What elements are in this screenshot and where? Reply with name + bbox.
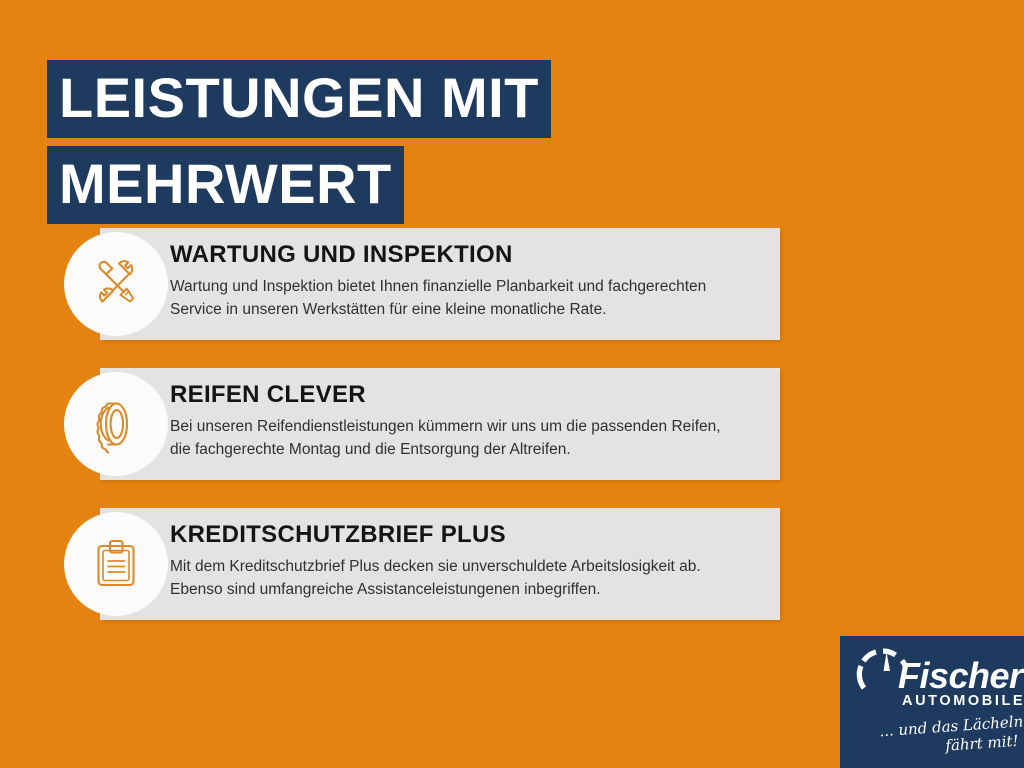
card-icon-badge (64, 512, 168, 616)
card-body: Bei unseren Reifendienstleistungen kümme… (170, 416, 770, 461)
tire-icon (85, 393, 147, 455)
wrench-screwdriver-icon (85, 253, 147, 315)
card-heading: WARTUNG UND INSPEKTION (170, 242, 770, 268)
service-card-kreditschutzbrief-plus[interactable]: KREDITSCHUTZBRIEF PLUS Mit dem Kreditsch… (0, 508, 1024, 620)
card-heading: KREDITSCHUTZBRIEF PLUS (170, 522, 770, 548)
card-text: WARTUNG UND INSPEKTION Wartung und Inspe… (170, 242, 770, 321)
service-card-wartung-und-inspektion[interactable]: WARTUNG UND INSPEKTION Wartung und Inspe… (0, 228, 1024, 340)
slide-root: { "theme": { "background": "#E58310", "n… (0, 0, 1024, 768)
card-heading: REIFEN CLEVER (170, 382, 770, 408)
card-icon-badge (64, 232, 168, 336)
title-line-1: LEISTUNGEN MIT (47, 60, 551, 138)
logo-tagline: ... und das Lächeln fährt mit! (859, 712, 1024, 761)
service-card-reifen-clever[interactable]: REIFEN CLEVER Bei unseren Reifendienstle… (0, 368, 1024, 480)
page-title: LEISTUNGEN MIT MEHRWERT (47, 60, 551, 224)
card-body: Wartung und Inspektion bietet Ihnen fina… (170, 276, 770, 321)
logo-subtitle: AUTOMOBILE (902, 694, 1024, 709)
clipboard-icon (85, 533, 147, 595)
company-logo: Fischer AUTOMOBILE ... und das Lächeln f… (840, 636, 1024, 768)
card-icon-badge (64, 372, 168, 476)
service-card-list: WARTUNG UND INSPEKTION Wartung und Inspe… (0, 228, 1024, 648)
card-text: REIFEN CLEVER Bei unseren Reifendienstle… (170, 382, 770, 461)
card-body: Mit dem Kreditschutzbrief Plus decken si… (170, 556, 770, 601)
title-line-2: MEHRWERT (47, 146, 404, 224)
logo-wordmark: Fischer (898, 658, 1023, 694)
card-text: KREDITSCHUTZBRIEF PLUS Mit dem Kreditsch… (170, 522, 770, 601)
